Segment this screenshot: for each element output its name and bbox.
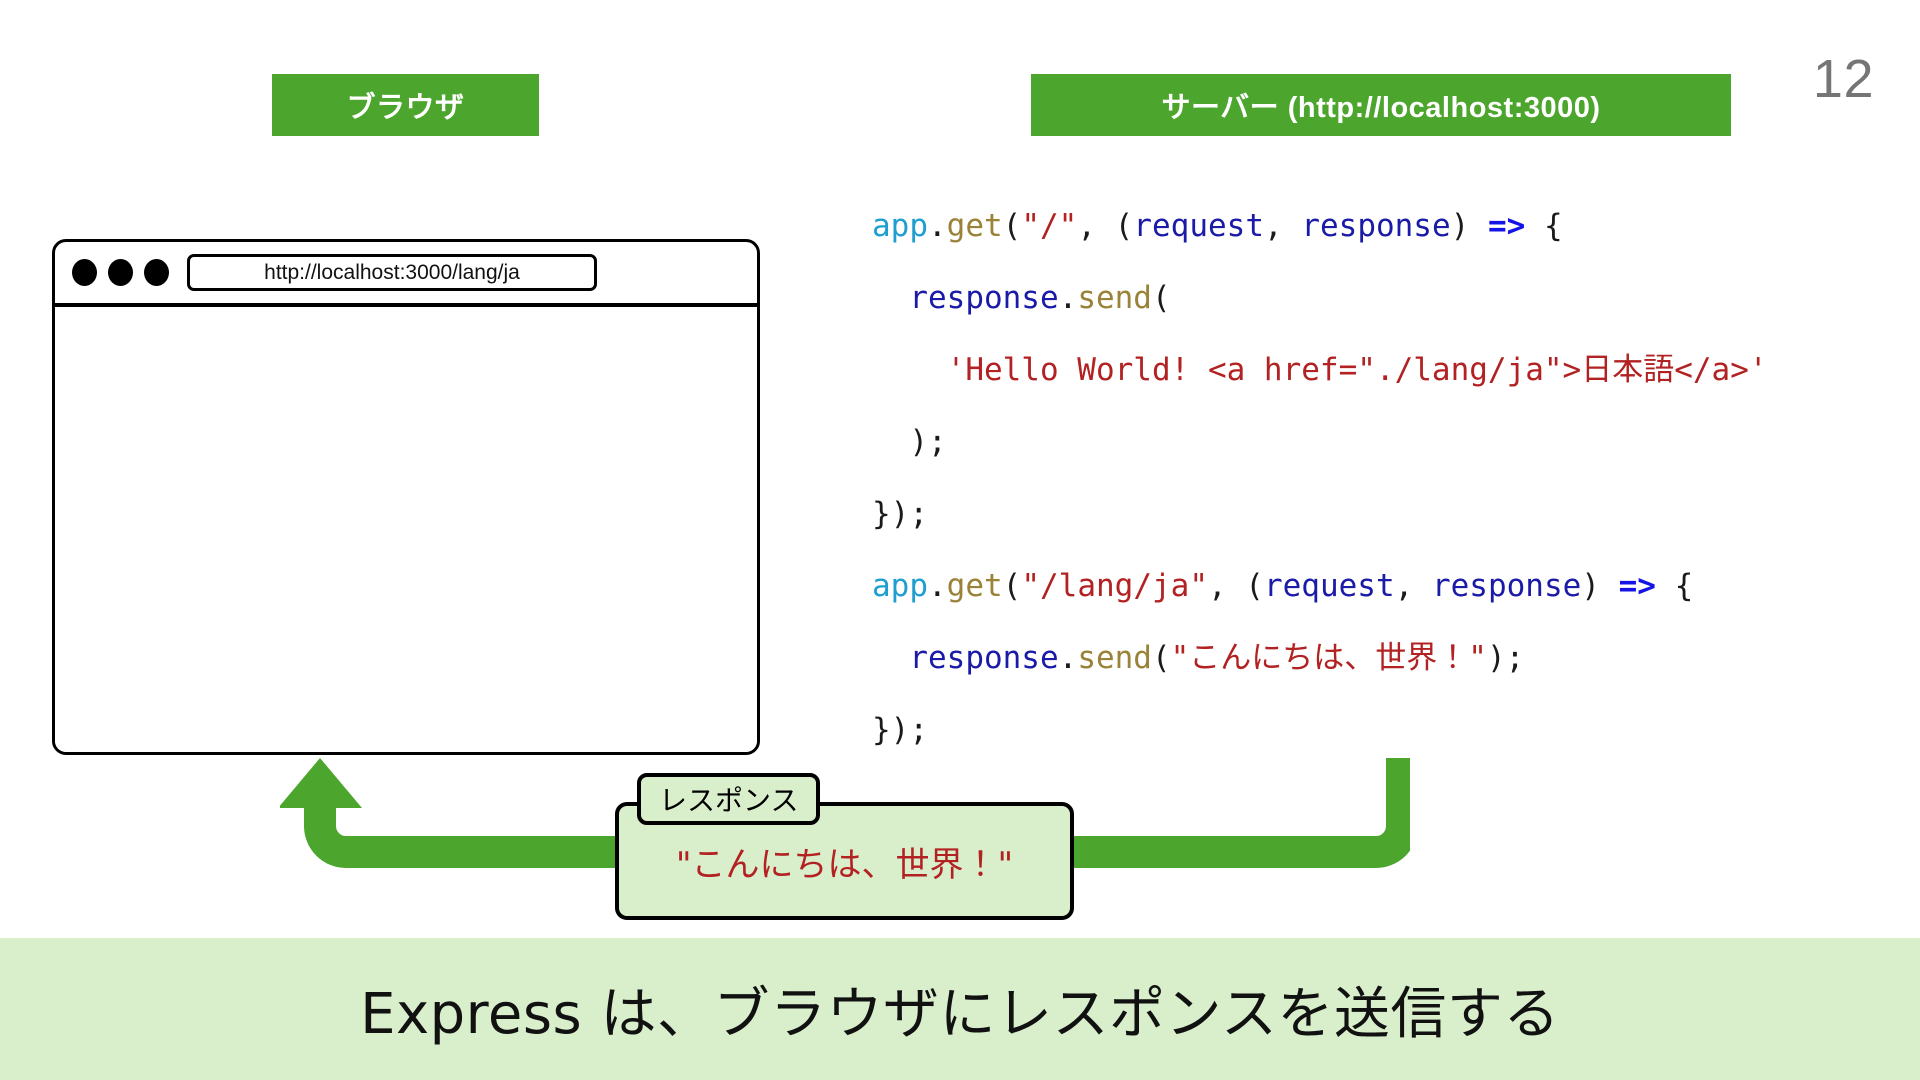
browser-address-bar[interactable]: http://localhost:3000/lang/ja [187, 254, 597, 291]
badge-server: サーバー (http://localhost:3000) [1031, 74, 1731, 136]
badge-browser: ブラウザ [272, 74, 539, 136]
window-maximize-dot-icon[interactable] [144, 259, 169, 286]
code-line: }); [872, 478, 1768, 550]
browser-window-mockup: http://localhost:3000/lang/ja [52, 239, 760, 755]
code-token-arrow: => [1619, 568, 1656, 604]
code-line: 'Hello World! <a href="./lang/ja">日本語</a… [872, 334, 1768, 406]
code-indent [872, 352, 947, 388]
browser-url-text: http://localhost:3000/lang/ja [264, 261, 520, 285]
code-token-punct: { [1525, 208, 1562, 244]
code-token-arrow: => [1488, 208, 1525, 244]
browser-viewport [55, 307, 757, 752]
code-line: }); [872, 694, 1768, 766]
response-callout-text: "こんにちは、世界！" [676, 837, 1013, 886]
code-line: ); [872, 406, 1768, 478]
code-token-method: get [947, 208, 1003, 244]
code-token-param: response [1432, 568, 1581, 604]
code-token-punct: , ( [1077, 208, 1133, 244]
code-line: response.send("こんにちは、世界！"); [872, 622, 1768, 694]
code-line: app.get("/lang/ja", (request, response) … [872, 550, 1768, 622]
code-token-punct: , [1395, 568, 1432, 604]
code-token-punct: ) [1581, 568, 1618, 604]
code-token-punct: }); [872, 712, 928, 748]
window-close-dot-icon[interactable] [72, 259, 97, 286]
window-minimize-dot-icon[interactable] [108, 259, 133, 286]
response-callout-tab-label: レスポンス [659, 779, 798, 819]
code-token-string: 'Hello World! <a href="./lang/ja">日本語</a… [947, 352, 1768, 388]
code-token-punct: { [1656, 568, 1693, 604]
code-token-method: send [1077, 640, 1152, 676]
badge-server-label: サーバー (http://localhost:3000) [1161, 84, 1600, 126]
code-token-string: "こんにちは、世界！" [1171, 640, 1487, 676]
browser-traffic-lights [72, 259, 169, 286]
code-token-param: response [1301, 208, 1450, 244]
code-token-obj: app [872, 208, 928, 244]
code-token-punct: . [1059, 280, 1078, 316]
code-token-punct: ); [1487, 640, 1524, 676]
code-token-param: response [909, 640, 1058, 676]
response-callout-tab: レスポンス [637, 773, 820, 825]
code-indent [872, 640, 909, 676]
slide-number: 12 [1813, 52, 1874, 106]
badge-browser-label: ブラウザ [346, 84, 464, 126]
caption-bar: Express は、ブラウザにレスポンスを送信する [0, 938, 1920, 1080]
code-indent [872, 280, 909, 316]
code-token-punct: ( [1003, 208, 1022, 244]
browser-chrome-bar: http://localhost:3000/lang/ja [55, 242, 757, 307]
code-token-string: "/" [1021, 208, 1077, 244]
code-token-punct: ( [1003, 568, 1022, 604]
code-token-param: request [1264, 568, 1395, 604]
response-arrow-head-icon [280, 758, 362, 816]
code-token-obj: app [872, 568, 928, 604]
code-token-param: request [1133, 208, 1264, 244]
code-token-punct: . [1059, 640, 1078, 676]
code-token-punct: }); [872, 496, 928, 532]
code-line: response.send( [872, 262, 1768, 334]
caption-text: Express は、ブラウザにレスポンスを送信する [360, 969, 1560, 1050]
code-token-punct: . [928, 568, 947, 604]
code-token-punct: . [928, 208, 947, 244]
code-token-punct: ( [1152, 640, 1171, 676]
code-token-punct: ( [1152, 280, 1171, 316]
code-token-punct: ); [909, 424, 946, 460]
code-token-param: response [909, 280, 1058, 316]
code-token-punct: , ( [1208, 568, 1264, 604]
code-line: app.get("/", (request, response) => { [872, 190, 1768, 262]
code-token-method: get [947, 568, 1003, 604]
server-code-block: app.get("/", (request, response) => { re… [872, 190, 1768, 766]
code-token-punct: ) [1451, 208, 1488, 244]
code-token-string: "/lang/ja" [1021, 568, 1208, 604]
code-token-punct: , [1264, 208, 1301, 244]
code-indent [872, 424, 909, 460]
code-token-method: send [1077, 280, 1152, 316]
